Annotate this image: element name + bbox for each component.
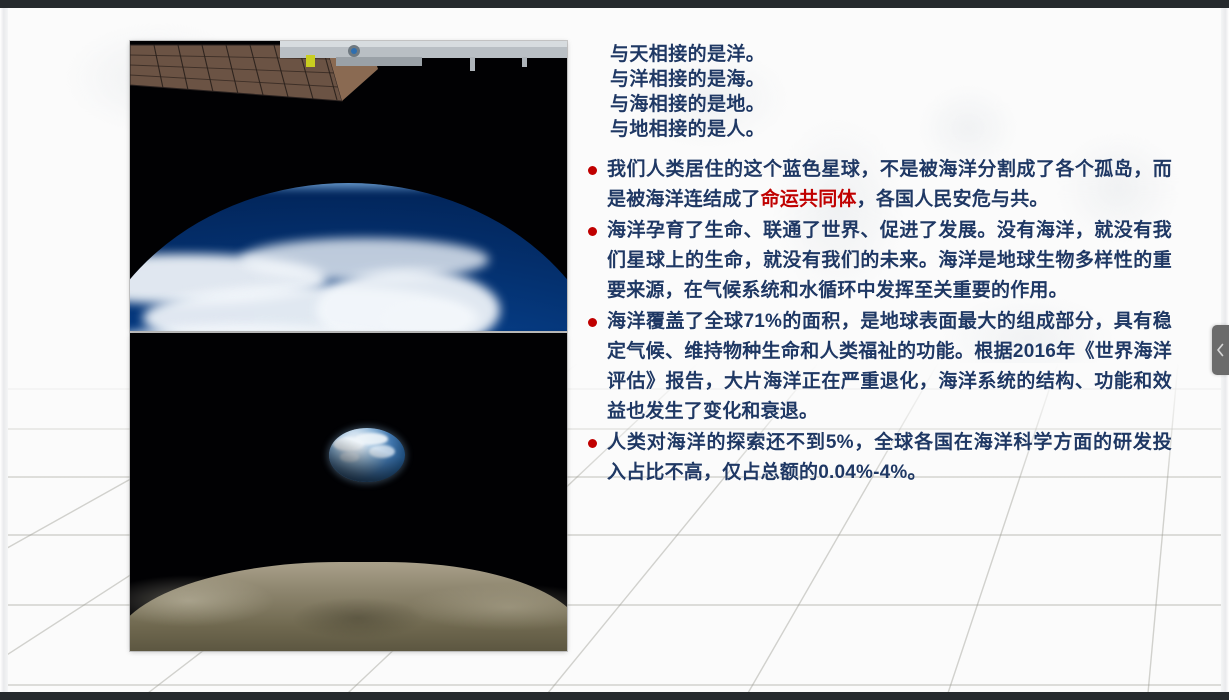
bullet-text: 海洋孕育了生命、联通了世界、促进了发展。没有海洋，就没有我们星球上的生命，就没有…	[607, 216, 1172, 306]
lunar-surface-shape	[130, 562, 567, 651]
bullet-text: 海洋覆盖了全球71%的面积，是地球表面最大的组成部分，具有稳定气候、维持物种生命…	[607, 307, 1172, 427]
poem-line: 与地相接的是人。	[610, 117, 1172, 142]
poem-line: 与海相接的是地。	[610, 92, 1172, 117]
bullet-dot-icon	[588, 227, 597, 236]
slide-text-column: 与天相接的是洋。 与洋相接的是海。 与海相接的是地。 与地相接的是人。 我们人类…	[578, 42, 1172, 489]
bullet-item: 海洋孕育了生命、联通了世界、促进了发展。没有海洋，就没有我们星球上的生命，就没有…	[578, 216, 1172, 306]
presentation-viewer: 与天相接的是洋。 与洋相接的是海。 与海相接的是地。 与地相接的是人。 我们人类…	[0, 0, 1229, 700]
bullet-text-run: 海洋孕育了生命、联通了世界、促进了发展。没有海洋，就没有我们星球上的生命，就没有…	[607, 220, 1172, 301]
chevron-left-icon	[1216, 343, 1225, 357]
slide-canvas: 与天相接的是洋。 与洋相接的是海。 与海相接的是地。 与地相接的是人。 我们人类…	[8, 8, 1221, 693]
viewer-left-edge	[0, 8, 8, 693]
poem-line: 与洋相接的是海。	[610, 67, 1172, 92]
bullet-text: 人类对海洋的探索还不到5%，全球各国在海洋科学方面的研发投入占比不高，仅占总额的…	[607, 428, 1172, 488]
poem-block: 与天相接的是洋。 与洋相接的是海。 与海相接的是地。 与地相接的是人。	[610, 42, 1172, 142]
image-earth-limb-from-iss	[130, 41, 567, 331]
bullet-item: 海洋覆盖了全球71%的面积，是地球表面最大的组成部分，具有稳定气候、维持物种生命…	[578, 307, 1172, 427]
viewer-bottom-bar	[0, 692, 1229, 700]
bullet-dot-icon	[588, 166, 597, 175]
bullet-item: 人类对海洋的探索还不到5%，全球各国在海洋科学方面的研发投入占比不高，仅占总额的…	[578, 428, 1172, 488]
highlighted-term: 命运共同体	[761, 189, 857, 210]
viewer-top-bar	[0, 0, 1229, 8]
poem-line: 与天相接的是洋。	[610, 42, 1172, 67]
bullet-dot-icon	[588, 439, 597, 448]
bullet-list: 我们人类居住的这个蓝色星球，不是被海洋分割成了各个孤岛，而是被海洋连结成了命运共…	[578, 155, 1172, 488]
bullet-text-run: ，各国人民安危与共。	[857, 189, 1049, 210]
collapse-panel-tab[interactable]	[1212, 325, 1229, 375]
bullet-item: 我们人类居住的这个蓝色星球，不是被海洋分割成了各个孤岛，而是被海洋连结成了命运共…	[578, 155, 1172, 215]
bullet-text-run: 人类对海洋的探索还不到5%，全球各国在海洋科学方面的研发投入占比不高，仅占总额的…	[607, 432, 1172, 483]
bullet-text-run: 海洋覆盖了全球71%的面积，是地球表面最大的组成部分，具有稳定气候、维持物种生命…	[607, 311, 1172, 422]
image-earthrise-over-lunar-horizon	[130, 333, 567, 651]
bullet-text: 我们人类居住的这个蓝色星球，不是被海洋分割成了各个孤岛，而是被海洋连结成了命运共…	[607, 155, 1172, 215]
bullet-dot-icon	[588, 318, 597, 327]
